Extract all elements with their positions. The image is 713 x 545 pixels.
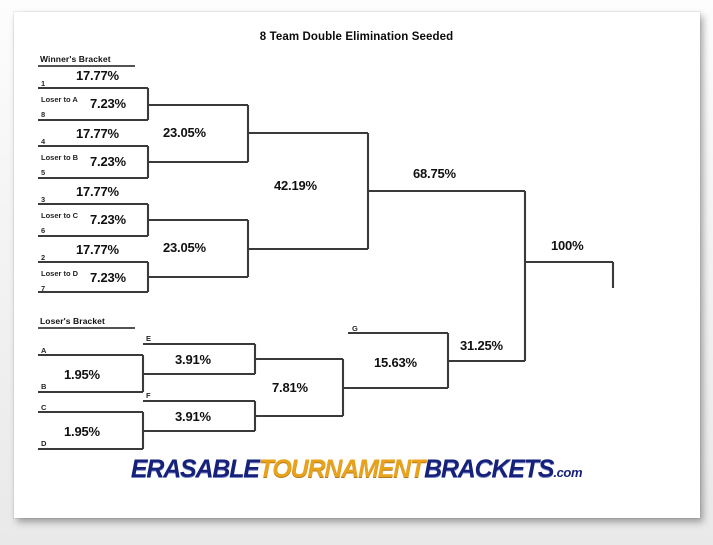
wb-match-4-loser-to: Loser to D [41,269,78,278]
wb-match-4-top-seed: 2 [41,253,45,262]
wb-match-2-top-seed: 4 [41,137,45,146]
lb-match-2-top-slot: C [41,403,46,412]
lb-final-slot: G [352,324,358,333]
wb-match-3-top-pct: 17.77% [76,184,119,199]
wb-match-4-bottom-seed: 7 [41,284,45,293]
lb-match-1-top-slot: A [41,346,46,355]
wb-match-3-top-seed: 3 [41,195,45,204]
wb-match-3-loser-to: Loser to C [41,211,78,220]
wb-match-1-bottom-pct: 7.23% [90,96,126,111]
wb-match-1-bottom-seed: 8 [41,110,45,119]
lb-champ-pct: 31.25% [460,338,503,353]
lb-match-f-slot: F [146,391,151,400]
wb-match-1-top-seed: 1 [41,79,45,88]
wb-match-2-bottom-seed: 5 [41,168,45,177]
wb-match-1-top-pct: 17.77% [76,68,119,83]
wb-match-3-bottom-pct: 7.23% [90,212,126,227]
losers-bracket-heading: Loser's Bracket [40,316,105,326]
lb-match-2-pct: 1.95% [64,424,100,439]
wb-match-4-bottom-pct: 7.23% [90,270,126,285]
wb-match-2-loser-to: Loser to B [41,153,78,162]
wb-match-1-loser-to: Loser to A [41,95,78,104]
wb-match-3-bottom-seed: 6 [41,226,45,235]
grand-final-lines [525,262,613,288]
bracket-canvas: 8 Team Double Elimination Seeded [0,0,713,545]
screenshot-root: 8 Team Double Elimination Seeded [0,0,713,545]
lb-match-e-slot: E [146,334,151,343]
wb-semi-2-pct: 23.05% [163,240,206,255]
lb-semi-pct: 7.81% [272,380,308,395]
lb-match-1-pct: 1.95% [64,367,100,382]
lb-match-f-pct: 3.91% [175,409,211,424]
lb-match-2-bottom-slot: D [41,439,46,448]
winners-bracket-heading: Winner's Bracket [40,54,111,64]
wb-champ-pct: 68.75% [413,166,456,181]
wb-match-2-top-pct: 17.77% [76,126,119,141]
wb-match-2-bottom-pct: 7.23% [90,154,126,169]
lb-match-e-pct: 3.91% [175,352,211,367]
wb-semi-1-pct: 23.05% [163,125,206,140]
wb-match-4-top-pct: 17.77% [76,242,119,257]
wb-final-pct: 42.19% [274,178,317,193]
grand-final-pct: 100% [551,238,583,253]
wb-champ-lines [368,191,525,262]
lb-final-pct: 15.63% [374,355,417,370]
lb-match-1-bottom-slot: B [41,382,46,391]
